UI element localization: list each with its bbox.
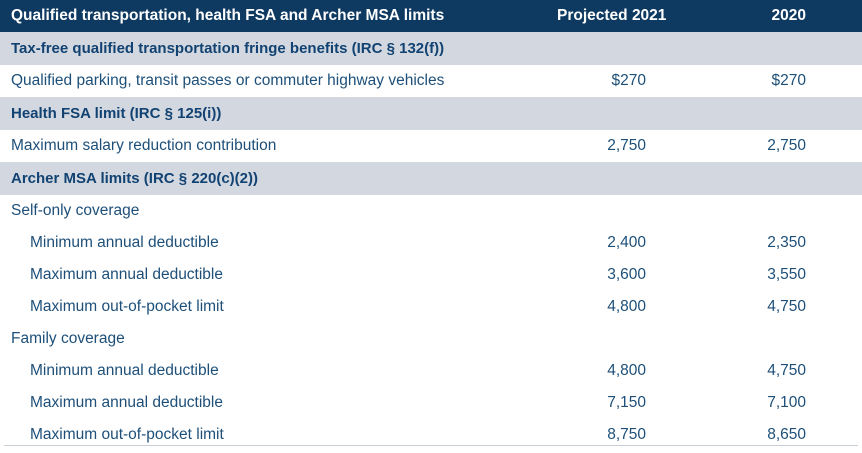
row-label: Maximum out-of-pocket limit bbox=[0, 291, 557, 323]
benefit-limits-table: Qualified transportation, health FSA and… bbox=[0, 0, 862, 451]
cell-projected-2021: 8,750 bbox=[557, 419, 702, 451]
section-header-row: Health FSA limit (IRC § 125(i)) bbox=[0, 97, 862, 130]
table-header: Qualified transportation, health FSA and… bbox=[0, 0, 862, 32]
section-header-row: Tax-free qualified transportation fringe… bbox=[0, 32, 862, 65]
cell-2020: 8,650 bbox=[702, 419, 862, 451]
table-row: Maximum out-of-pocket limit8,7508,650 bbox=[0, 419, 862, 451]
cell-projected-2021 bbox=[557, 323, 702, 355]
table-body: Tax-free qualified transportation fringe… bbox=[0, 32, 862, 451]
section-header-row: Archer MSA limits (IRC § 220(c)(2)) bbox=[0, 162, 862, 195]
coverage-group-row: Self-only coverage bbox=[0, 195, 862, 227]
cell-2020: 2,350 bbox=[702, 227, 862, 259]
cell-projected-2021: 4,800 bbox=[557, 291, 702, 323]
row-label: Maximum annual deductible bbox=[0, 387, 557, 419]
cell-projected-2021: 4,800 bbox=[557, 355, 702, 387]
column-header-projected-2021: Projected 2021 bbox=[557, 0, 702, 32]
cell-2020: 7,100 bbox=[702, 387, 862, 419]
coverage-group-row: Family coverage bbox=[0, 323, 862, 355]
limits-table-container: Qualified transportation, health FSA and… bbox=[0, 0, 862, 453]
table-row: Minimum annual deductible4,8004,750 bbox=[0, 355, 862, 387]
section-header-label: Tax-free qualified transportation fringe… bbox=[0, 32, 862, 65]
cell-projected-2021 bbox=[557, 195, 702, 227]
row-label: Minimum annual deductible bbox=[0, 355, 557, 387]
cell-2020: 2,750 bbox=[702, 130, 862, 162]
table-row: Maximum salary reduction contribution2,7… bbox=[0, 130, 862, 162]
row-label: Maximum salary reduction contribution bbox=[0, 130, 557, 162]
coverage-group-label: Family coverage bbox=[0, 323, 557, 355]
row-label: Minimum annual deductible bbox=[0, 227, 557, 259]
column-header-2020: 2020 bbox=[702, 0, 862, 32]
cell-2020 bbox=[702, 323, 862, 355]
cell-projected-2021: 2,750 bbox=[557, 130, 702, 162]
coverage-group-label: Self-only coverage bbox=[0, 195, 557, 227]
section-header-label: Archer MSA limits (IRC § 220(c)(2)) bbox=[0, 162, 862, 195]
cell-projected-2021: 2,400 bbox=[557, 227, 702, 259]
table-row: Maximum annual deductible3,6003,550 bbox=[0, 259, 862, 291]
row-label: Maximum annual deductible bbox=[0, 259, 557, 291]
cell-2020 bbox=[702, 195, 862, 227]
table-row: Minimum annual deductible2,4002,350 bbox=[0, 227, 862, 259]
column-header-label: Qualified transportation, health FSA and… bbox=[0, 0, 557, 32]
cell-2020: $270 bbox=[702, 65, 862, 97]
table-bottom-rule bbox=[4, 445, 858, 446]
row-label: Maximum out-of-pocket limit bbox=[0, 419, 557, 451]
cell-projected-2021: 7,150 bbox=[557, 387, 702, 419]
cell-projected-2021: 3,600 bbox=[557, 259, 702, 291]
section-header-label: Health FSA limit (IRC § 125(i)) bbox=[0, 97, 862, 130]
table-row: Qualified parking, transit passes or com… bbox=[0, 65, 862, 97]
table-row: Maximum out-of-pocket limit4,8004,750 bbox=[0, 291, 862, 323]
cell-2020: 4,750 bbox=[702, 291, 862, 323]
row-label: Qualified parking, transit passes or com… bbox=[0, 65, 557, 97]
cell-2020: 3,550 bbox=[702, 259, 862, 291]
table-row: Maximum annual deductible7,1507,100 bbox=[0, 387, 862, 419]
table-header-row: Qualified transportation, health FSA and… bbox=[0, 0, 862, 32]
cell-projected-2021: $270 bbox=[557, 65, 702, 97]
cell-2020: 4,750 bbox=[702, 355, 862, 387]
